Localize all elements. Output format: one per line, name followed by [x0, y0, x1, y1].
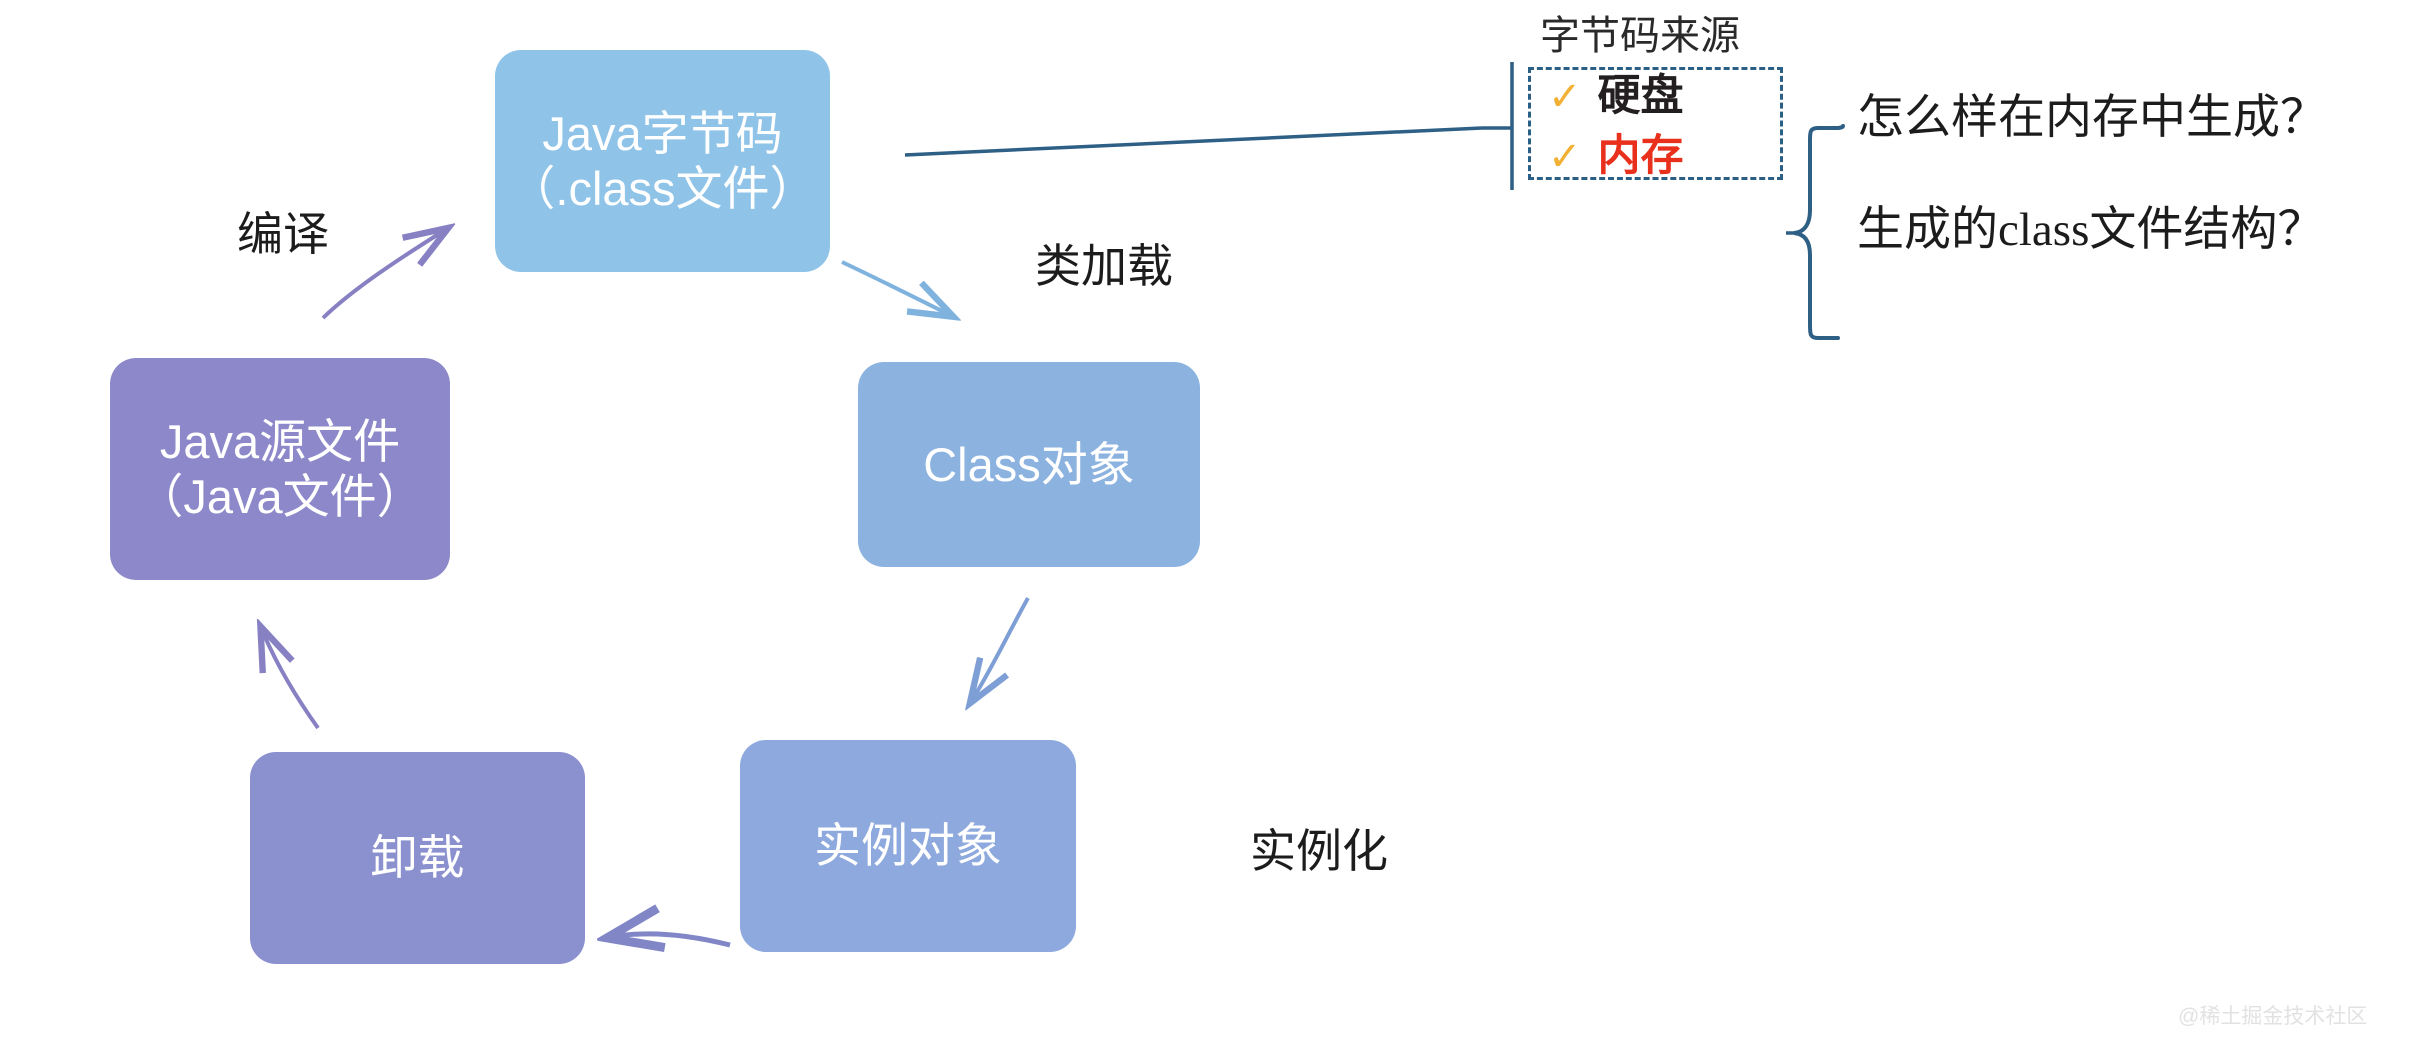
node-unload[interactable]: 卸载 — [250, 752, 585, 964]
edge-label-compile: 编译 — [237, 198, 329, 264]
node-java-bytecode[interactable]: Java字节码 （.class文件） — [495, 50, 830, 272]
bytecode-source-item-label: 内存 — [1598, 135, 1684, 178]
edge-label-class-loading: 类加载 — [1035, 230, 1173, 296]
question-generated-class-structure: 生成的class文件结构？ — [1857, 190, 2324, 259]
arrow-unload — [612, 934, 730, 945]
watermark: @稀土掘金技术社区 — [2178, 1000, 2367, 1030]
node-label: 卸载 — [371, 830, 465, 885]
arrow-reload — [262, 630, 318, 728]
arrow-classload — [842, 262, 950, 315]
node-label: Class对象 — [923, 437, 1135, 492]
connector-line-bytecode-to-source-panel — [905, 128, 1482, 155]
bytecode-source-item-disk[interactable]: ✓ 硬盘 — [1548, 75, 1684, 118]
node-class-object[interactable]: Class对象 — [858, 362, 1200, 567]
node-instance-object[interactable]: 实例对象 — [740, 740, 1076, 952]
node-java-source-file[interactable]: Java源文件 （Java文件） — [110, 358, 450, 580]
bytecode-source-item-memory[interactable]: ✓ 内存 — [1548, 135, 1684, 178]
check-icon: ✓ — [1548, 77, 1582, 117]
right-bracket — [1794, 126, 1843, 338]
question-how-generated-in-memory: 怎么样在内存中生成？ — [1857, 78, 2327, 147]
arrow-instantiate — [972, 598, 1028, 700]
arrow-compile — [323, 230, 445, 318]
bytecode-source-item-label: 硬盘 — [1598, 75, 1684, 118]
edge-label-instantiation: 实例化 — [1250, 815, 1388, 881]
node-label: 实例对象 — [814, 818, 1002, 873]
node-label: Java源文件 （Java文件） — [136, 414, 423, 525]
node-label: Java字节码 （.class文件） — [508, 106, 816, 217]
check-icon: ✓ — [1548, 137, 1582, 177]
bytecode-source-title: 字节码来源 — [1540, 3, 1740, 61]
diagram-canvas: Java字节码 （.class文件） Java源文件 （Java文件） Clas… — [0, 0, 2424, 1048]
